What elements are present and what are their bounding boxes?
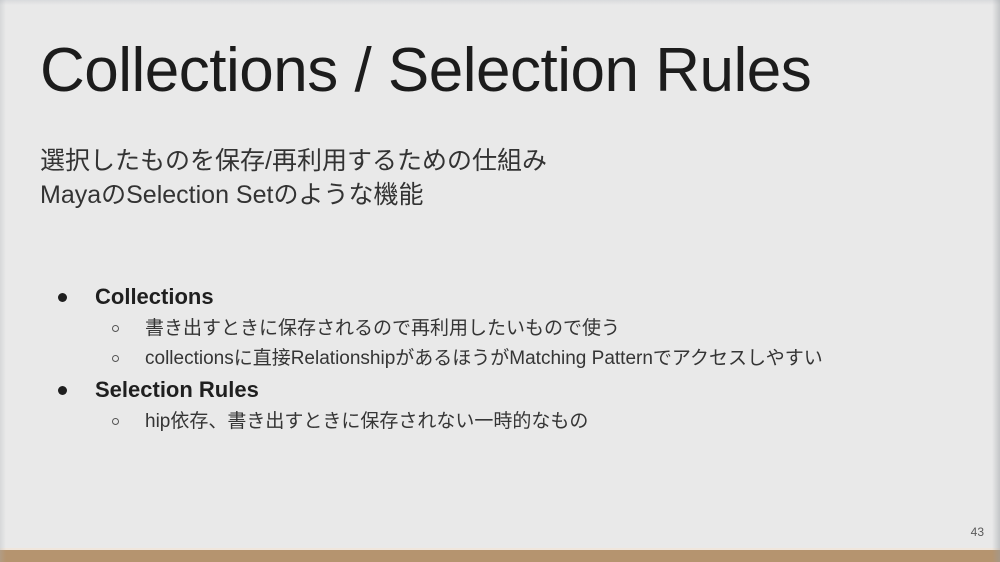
bullet-label: Selection Rules	[95, 377, 259, 402]
subtitle-line-1: 選択したものを保存/再利用するための仕組み	[40, 144, 547, 178]
list-item: collectionsに直接RelationshipがあるほうがMatching…	[40, 344, 940, 374]
subtitle: 選択したものを保存/再利用するための仕組み MayaのSelection Set…	[40, 144, 547, 212]
bullet-label: Collections	[95, 284, 214, 309]
disc-bullet-icon	[58, 293, 67, 302]
disc-bullet-icon	[58, 386, 67, 395]
bullet-list: Collections 書き出すときに保存されるので再利用したいもので使う co…	[40, 281, 940, 437]
accent-bar	[0, 550, 1000, 562]
list-item: 書き出すときに保存されるので再利用したいもので使う	[40, 314, 940, 344]
circle-bullet-icon	[112, 325, 119, 332]
list-item: hip依存、書き出すときに保存されない一時的なもの	[40, 407, 940, 437]
bullet-label: collectionsに直接RelationshipがあるほうがMatching…	[145, 348, 823, 369]
bullet-label: 書き出すときに保存されるので再利用したいもので使う	[145, 318, 620, 339]
slide: Collections / Selection Rules 選択したものを保存/…	[0, 0, 1000, 562]
circle-bullet-icon	[112, 355, 119, 362]
bullet-label: hip依存、書き出すときに保存されない一時的なもの	[145, 411, 588, 432]
page-number: 43	[971, 525, 984, 539]
list-item: Selection Rules	[40, 374, 940, 406]
page-title: Collections / Selection Rules	[40, 34, 811, 108]
circle-bullet-icon	[112, 418, 119, 425]
list-item: Collections	[40, 281, 940, 313]
subtitle-line-2: MayaのSelection Setのような機能	[40, 178, 547, 212]
